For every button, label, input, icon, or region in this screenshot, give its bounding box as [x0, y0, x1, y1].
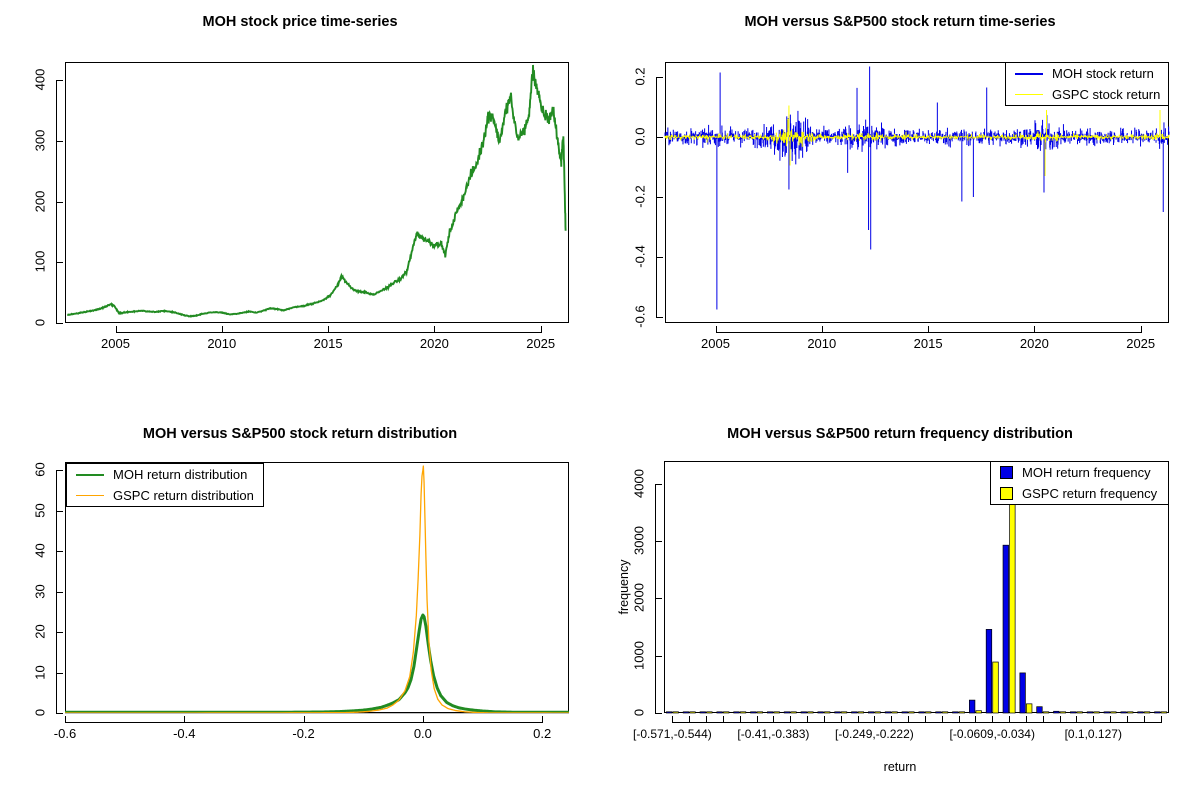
bar [723, 712, 729, 713]
y-axis-tick [56, 80, 63, 81]
bar [969, 700, 975, 713]
bar [1111, 712, 1117, 713]
bar [1094, 712, 1100, 713]
x-axis-tick [716, 326, 717, 333]
legend-line-key [76, 495, 104, 496]
y-axis-label: 60 [33, 420, 48, 520]
x-axis-tick [65, 716, 66, 723]
bar [717, 712, 723, 713]
bar [1087, 712, 1093, 713]
x-axis-tick [1043, 716, 1044, 723]
legend-entry[interactable]: MOH stock return [1006, 63, 1168, 84]
x-axis-label: 2025 [471, 336, 611, 351]
y-axis-tick [656, 317, 663, 318]
legend-entry[interactable]: MOH return distribution [67, 464, 263, 485]
x-axis-bin-label: [0.1,0.127) [1023, 727, 1163, 741]
x-axis-tick [1034, 326, 1035, 333]
panel-frequency-ylabel: frequency [617, 547, 631, 627]
legend-label: MOH return distribution [113, 464, 247, 485]
bar [818, 712, 824, 713]
bar [919, 712, 925, 713]
x-axis-tick [824, 716, 825, 723]
bar [751, 712, 757, 713]
bar [959, 712, 965, 713]
bar [858, 712, 864, 713]
bar [1127, 712, 1133, 713]
y-axis-tick [656, 197, 663, 198]
bar [1020, 673, 1026, 713]
bar [1104, 712, 1110, 713]
y-axis-tick [655, 598, 662, 599]
bar [784, 712, 790, 713]
bar [1077, 712, 1083, 713]
x-axis-tick [1144, 716, 1145, 723]
x-axis-label: 2025 [1071, 336, 1200, 351]
bar [835, 712, 841, 713]
legend-line-key [1015, 94, 1043, 95]
bar [1003, 545, 1009, 713]
bar [892, 712, 898, 713]
panel-frequency-xlabel: return [600, 760, 1200, 774]
x-axis-tick [992, 716, 993, 723]
legend-line-key [76, 474, 104, 476]
bar [740, 712, 746, 713]
y-axis-tick [655, 484, 662, 485]
bar [1070, 712, 1076, 713]
bar [936, 712, 942, 713]
legend-line-icon [76, 495, 104, 496]
y-axis-tick [56, 713, 63, 714]
x-axis-label: 0.2 [472, 726, 612, 741]
panel-frequency-legend[interactable]: MOH return frequencyGSPC return frequenc… [990, 461, 1169, 505]
bar [801, 712, 807, 713]
density-curve-moh [65, 615, 569, 712]
panel-distribution-legend[interactable]: MOH return distributionGSPC return distr… [66, 463, 264, 507]
bar [1037, 707, 1043, 713]
bars-gspc [673, 505, 1167, 713]
x-axis-tick [908, 716, 909, 723]
legend-line-icon [1015, 94, 1043, 95]
x-axis-tick [874, 716, 875, 723]
x-axis-tick [1161, 716, 1162, 723]
x-axis-tick [757, 716, 758, 723]
x-axis-tick [959, 716, 960, 723]
y-axis-tick [655, 656, 662, 657]
y-axis-tick [655, 541, 662, 542]
y-axis-label: 4000 [632, 433, 647, 533]
bar [707, 712, 713, 713]
legend-line-key [1015, 73, 1043, 75]
legend-label: MOH stock return [1052, 63, 1154, 84]
y-axis-tick [56, 511, 63, 512]
x-axis-tick [942, 716, 943, 723]
x-axis-tick [184, 716, 185, 723]
legend-swatch-icon [1000, 487, 1013, 500]
x-axis-tick [723, 716, 724, 723]
bar [666, 712, 672, 713]
x-axis-line [672, 722, 1160, 723]
plot-grid: MOH stock price time-series 200520102015… [0, 0, 1200, 800]
bar [841, 712, 847, 713]
bar [885, 712, 891, 713]
legend-label: GSPC return distribution [113, 485, 254, 506]
bar [1138, 712, 1144, 713]
bar [868, 712, 874, 713]
x-axis-tick [928, 326, 929, 333]
y-axis-tick [56, 551, 63, 552]
x-axis-tick [116, 326, 117, 333]
bar [791, 712, 797, 713]
panel-price: MOH stock price time-series 200520102015… [0, 0, 600, 400]
x-axis-tick [542, 716, 543, 723]
panel-frequency: MOH versus S&P500 return frequency distr… [600, 400, 1200, 800]
x-axis-tick [706, 716, 707, 723]
y-axis-tick [56, 632, 63, 633]
bar [824, 712, 830, 713]
bar [1010, 505, 1016, 713]
legend-swatch-icon [1000, 466, 1013, 479]
legend-line-icon [1015, 73, 1043, 75]
price-line-moh [67, 65, 565, 317]
bar [1144, 712, 1150, 713]
y-axis-tick [656, 257, 663, 258]
panel-returns: MOH versus S&P500 stock return time-seri… [600, 0, 1200, 400]
bar [673, 712, 679, 713]
bar [774, 712, 780, 713]
y-axis-tick [655, 713, 662, 714]
x-axis-tick [423, 716, 424, 723]
bar [1060, 712, 1066, 713]
y-axis-label: 400 [33, 30, 48, 130]
bar [875, 712, 881, 713]
bar [1155, 712, 1161, 713]
legend-box-key [1000, 487, 1013, 500]
legend-label: MOH return frequency [1022, 462, 1151, 483]
bar [808, 712, 814, 713]
panel-distribution: MOH versus S&P500 stock return distribut… [0, 400, 600, 800]
bar [690, 712, 696, 713]
y-axis-tick [56, 262, 63, 263]
x-axis-tick [1110, 716, 1111, 723]
x-axis-tick [773, 716, 774, 723]
legend-entry[interactable]: GSPC return distribution [67, 485, 263, 506]
x-axis-tick [1141, 326, 1142, 333]
bar [909, 712, 915, 713]
x-axis-tick [740, 716, 741, 723]
x-axis-tick [672, 716, 673, 723]
x-axis-tick [222, 326, 223, 333]
legend-label: GSPC stock return [1052, 84, 1160, 105]
x-axis-tick [689, 716, 690, 723]
x-axis-tick [1060, 716, 1061, 723]
legend-entry[interactable]: MOH return frequency [991, 462, 1168, 483]
bar [1121, 712, 1127, 713]
x-axis-tick [858, 716, 859, 723]
bar [757, 712, 763, 713]
y-axis-tick [56, 673, 63, 674]
bar [1161, 712, 1167, 713]
x-axis-tick [1009, 716, 1010, 723]
x-axis-tick [434, 326, 435, 333]
legend-entry[interactable]: GSPC return frequency [991, 483, 1168, 504]
y-axis-tick [56, 592, 63, 593]
bar [986, 629, 992, 713]
y-axis-tick [56, 323, 63, 324]
bar [902, 712, 908, 713]
x-axis-tick [1127, 716, 1128, 723]
x-axis-tick [822, 326, 823, 333]
x-axis-tick [541, 326, 542, 333]
y-axis-label: 0.2 [633, 27, 648, 127]
x-axis-tick [1093, 716, 1094, 723]
x-axis-tick [790, 716, 791, 723]
bar [1054, 711, 1060, 713]
bar [734, 712, 740, 713]
legend-entry[interactable]: GSPC stock return [1006, 84, 1168, 105]
bar [976, 711, 982, 713]
bar [852, 712, 858, 713]
x-axis-tick [807, 716, 808, 723]
bar [953, 712, 959, 713]
y-axis-tick [56, 470, 63, 471]
x-axis-tick [975, 716, 976, 723]
y-axis-tick [656, 137, 663, 138]
x-axis-tick [1076, 716, 1077, 723]
x-axis-tick [304, 716, 305, 723]
bar [700, 712, 706, 713]
bars-moh [666, 545, 1160, 713]
zero-baseline [65, 713, 569, 714]
legend-label: GSPC return frequency [1022, 483, 1157, 504]
y-axis-tick [656, 77, 663, 78]
bar [683, 712, 689, 713]
x-axis-tick [925, 716, 926, 723]
y-axis-tick [56, 141, 63, 142]
panel-returns-legend[interactable]: MOH stock returnGSPC stock return [1005, 62, 1169, 106]
bar [1043, 712, 1049, 713]
bar [942, 712, 948, 713]
bar [767, 712, 773, 713]
legend-line-icon [76, 474, 104, 476]
bar [993, 662, 999, 713]
legend-box-key [1000, 466, 1013, 479]
x-axis-tick [891, 716, 892, 723]
x-axis-tick [1026, 716, 1027, 723]
bar [1026, 704, 1032, 713]
bar [925, 712, 931, 713]
y-axis-tick [56, 202, 63, 203]
x-axis-tick [328, 326, 329, 333]
x-axis-tick [841, 716, 842, 723]
